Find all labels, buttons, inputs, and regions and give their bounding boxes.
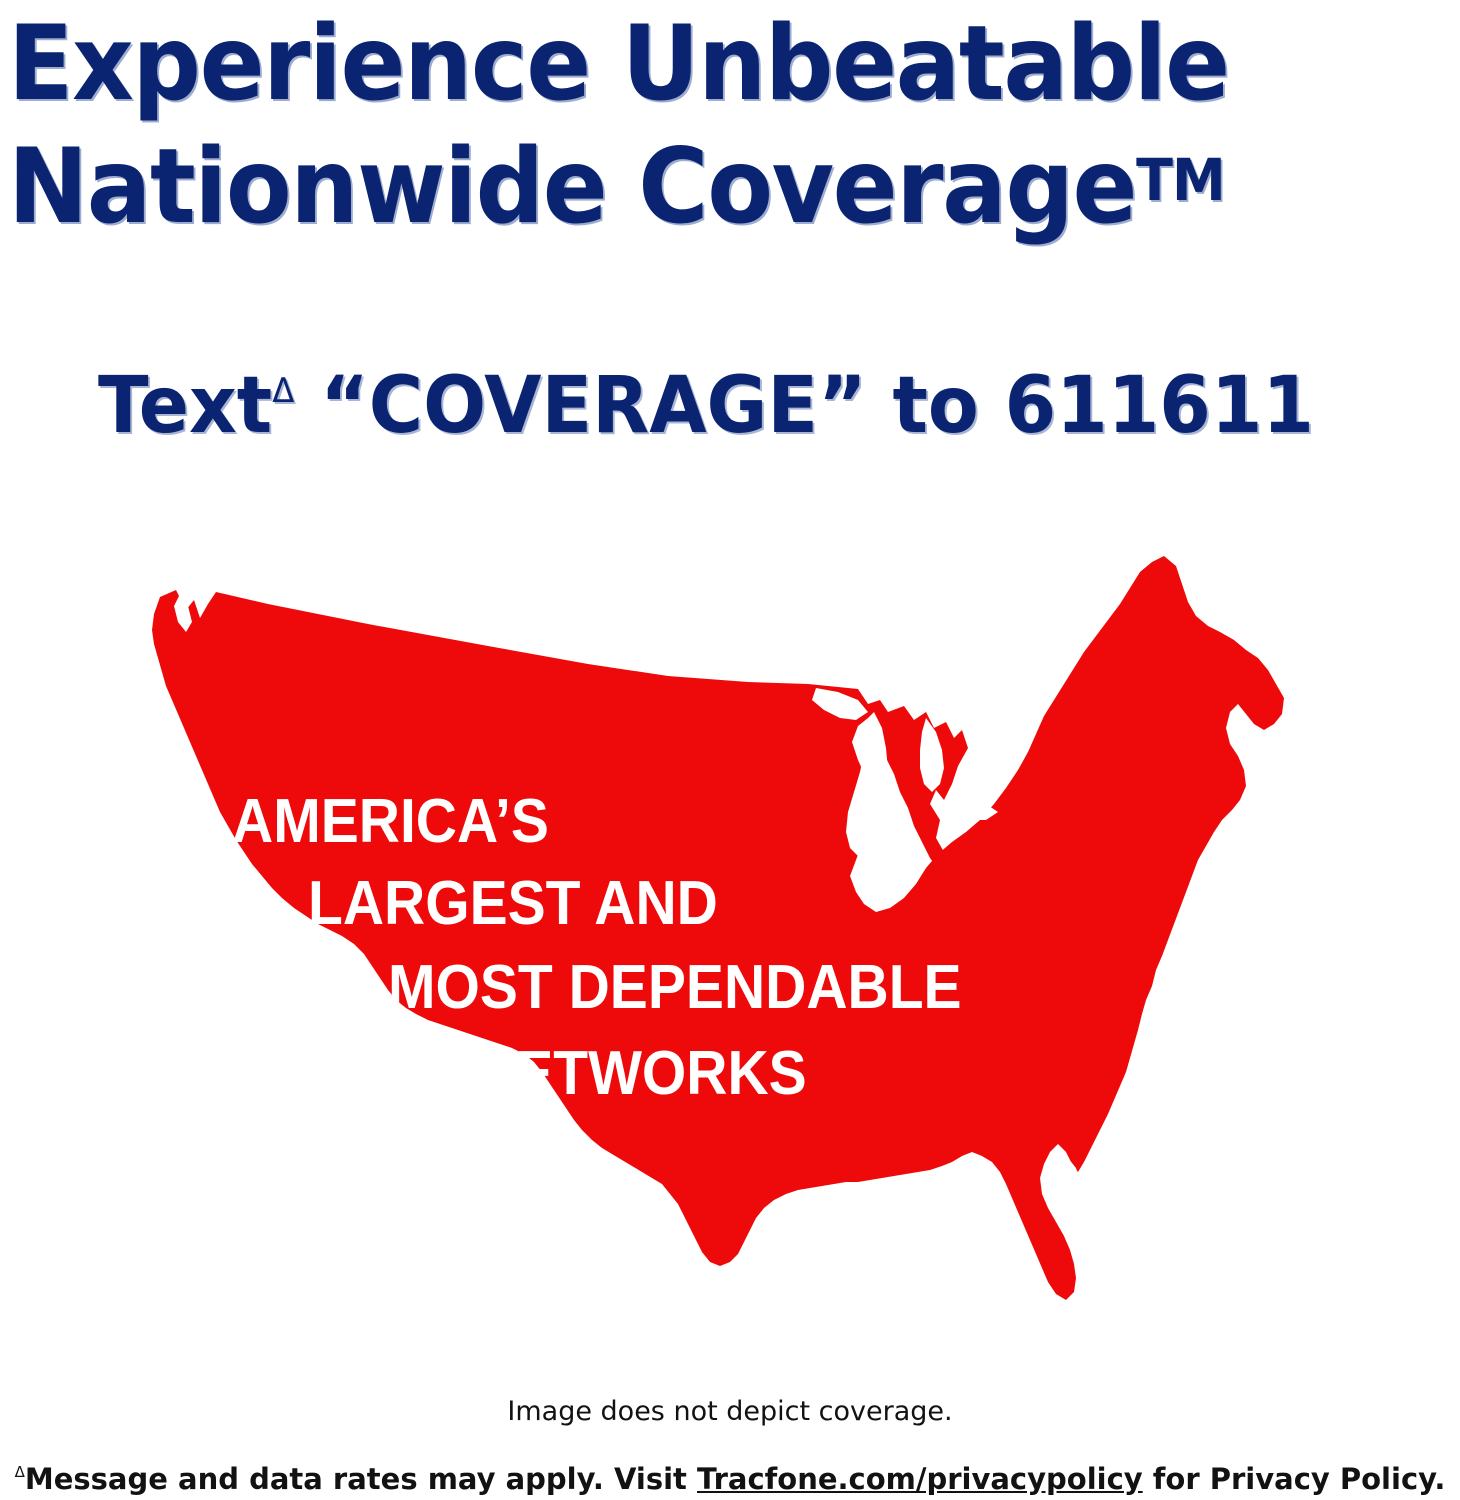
legal-text-before-link: Message and data rates may apply. Visit bbox=[25, 1462, 697, 1496]
lake-erie-void bbox=[944, 800, 998, 820]
usa-map-silhouette bbox=[68, 552, 1358, 1312]
coverage-disclaimer: Image does not depict coverage. bbox=[0, 1396, 1460, 1428]
coverage-promo-banner: Experience Unbeatable Nationwide Coverag… bbox=[0, 0, 1460, 1500]
trademark-symbol: TM bbox=[1136, 146, 1225, 214]
footnote-marker-icon: Δ bbox=[272, 371, 294, 411]
headline-line-2: Nationwide CoverageTM bbox=[8, 122, 1358, 245]
legal-footnote: ΔMessage and data rates may apply. Visit… bbox=[0, 1455, 1460, 1496]
headline-line-2-text: Nationwide Coverage bbox=[8, 127, 1136, 247]
subhead-prefix: Text bbox=[98, 361, 272, 451]
headline-line-1-text: Experience Unbeatable bbox=[8, 4, 1229, 124]
subhead-connector: to bbox=[892, 361, 978, 451]
privacy-policy-link[interactable]: Tracfone.com/privacypolicy bbox=[697, 1462, 1143, 1496]
usa-map-path bbox=[152, 556, 1284, 1300]
subhead-keyword: “COVERAGE” bbox=[320, 361, 867, 451]
sms-call-to-action: TextΔ “COVERAGE” to 611611 bbox=[98, 348, 1314, 449]
subhead-shortcode: 611611 bbox=[1005, 361, 1314, 451]
cape-cod-void bbox=[1254, 734, 1274, 754]
page-title: Experience Unbeatable Nationwide Coverag… bbox=[8, 6, 1460, 245]
footnote-marker-icon-small: Δ bbox=[15, 1463, 25, 1481]
legal-text-after-link: for Privacy Policy. bbox=[1143, 1462, 1446, 1496]
headline-line-1: Experience Unbeatable bbox=[8, 6, 1358, 122]
